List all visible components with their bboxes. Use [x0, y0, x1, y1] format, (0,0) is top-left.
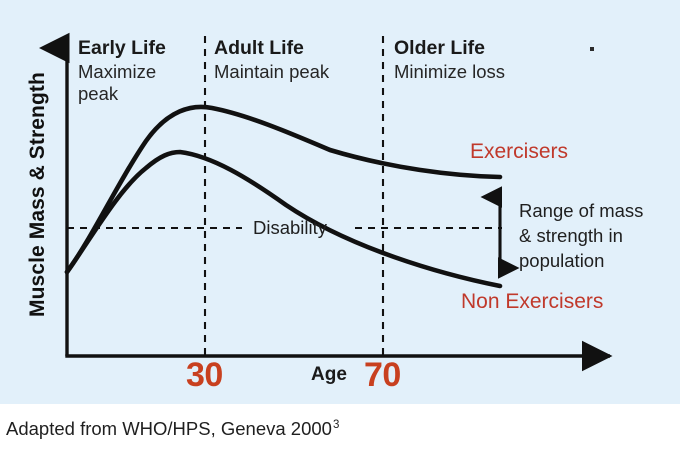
stage-heading-early-life: Early Life: [78, 37, 166, 59]
chart-panel: Muscle Mass & Strength Early Life Maximi…: [0, 0, 680, 404]
stage-subtitle-adult-life: Maintain peak: [214, 61, 329, 83]
y-axis-title: Muscle Mass & Strength: [26, 87, 50, 317]
stage-heading-adult-life: Adult Life: [214, 37, 304, 59]
series-label-non-exercisers: Non Exercisers: [461, 290, 603, 314]
x-axis-tick-70: 70: [364, 356, 401, 395]
source-caption-footnote-marker: 3: [333, 419, 339, 431]
series-curve-exercisers: [67, 107, 500, 272]
disability-threshold-label: Disability: [253, 217, 327, 239]
stage-heading-older-life: Older Life: [394, 37, 485, 59]
series-label-exercisers: Exercisers: [470, 140, 568, 164]
source-caption-text: Adapted from WHO/HPS, Geneva 2000: [6, 418, 332, 439]
source-caption: Adapted from WHO/HPS, Geneva 20003: [6, 418, 339, 440]
stray-dot-mark: [590, 47, 594, 51]
x-axis-title: Age: [311, 364, 347, 386]
stage-subtitle-early-life: Maximize peak: [78, 61, 156, 105]
stage-subtitle-older-life: Minimize loss: [394, 61, 505, 83]
x-axis-tick-30: 30: [186, 356, 223, 395]
series-curves: [67, 107, 500, 286]
range-annotation-label: Range of mass & strength in population: [519, 198, 643, 273]
